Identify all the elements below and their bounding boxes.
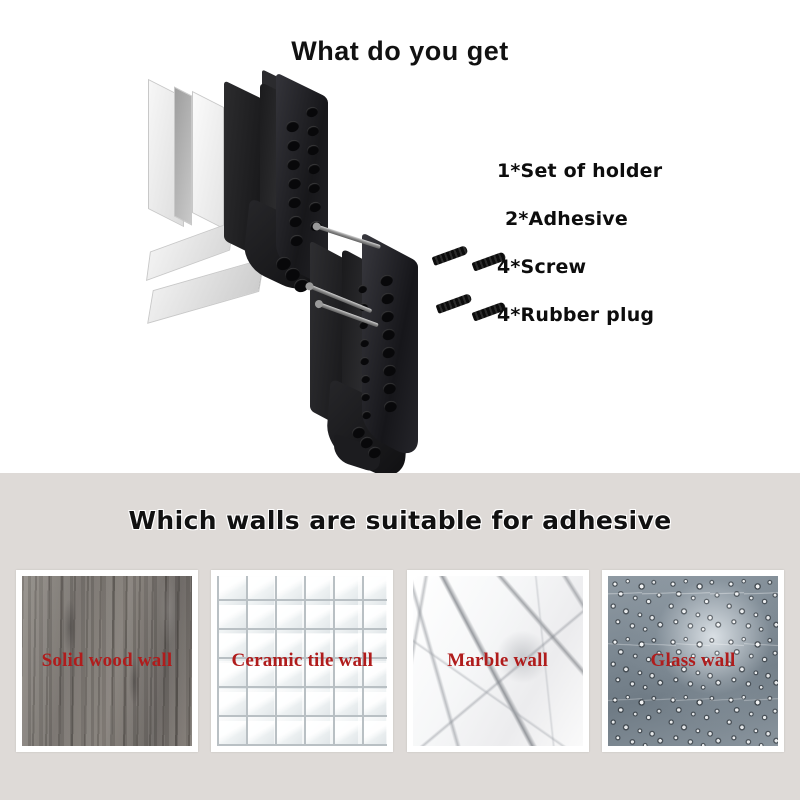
wall-type-card-marble: Marble wall	[407, 570, 589, 752]
wood-texture: Solid wood wall	[22, 576, 192, 746]
page-title: What do you get	[0, 36, 800, 67]
package-contents-list: 1*Set of holder 2*Adhesive 4*Screw 4*Rub…	[497, 160, 787, 352]
wall-type-label: Glass wall	[608, 650, 778, 672]
product-infographic: What do you get	[0, 0, 800, 800]
wall-type-card-glass: Glass wall	[602, 570, 784, 752]
wall-type-card-ceramic: Ceramic tile wall	[211, 570, 393, 752]
glass-texture: Glass wall	[608, 576, 778, 746]
ceramic-texture: Ceramic tile wall	[217, 576, 387, 746]
section-title: Which walls are suitable for adhesive	[0, 506, 800, 535]
package-contents-section: What do you get	[0, 0, 800, 473]
list-item: 4*Rubber plug	[497, 304, 787, 326]
list-item: 4*Screw	[497, 256, 787, 278]
suitable-walls-section: Which walls are suitable for adhesive So…	[0, 473, 800, 800]
wall-type-label: Solid wood wall	[22, 650, 192, 672]
list-item: 2*Adhesive	[505, 208, 787, 230]
marble-texture: Marble wall	[413, 576, 583, 746]
adhesive-pad	[174, 86, 192, 225]
wall-type-gallery: Solid wood wall Ceramic tile wall Marble…	[16, 570, 784, 752]
product-illustration	[120, 85, 520, 455]
wall-type-label: Marble wall	[413, 650, 583, 672]
wall-type-card-wood: Solid wood wall	[16, 570, 198, 752]
holder-bracket-lower	[300, 245, 480, 465]
list-item: 1*Set of holder	[497, 160, 787, 182]
wall-type-label: Ceramic tile wall	[217, 650, 387, 672]
